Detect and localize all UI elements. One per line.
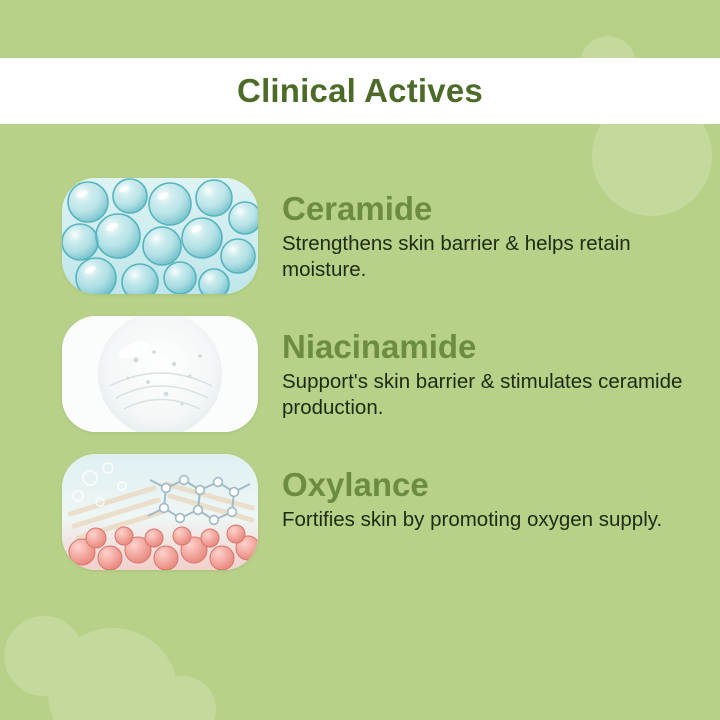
ingredient-name: Oxylance xyxy=(282,468,662,503)
page-title: Clinical Actives xyxy=(237,72,483,110)
oxylance-molecule-image xyxy=(62,454,258,570)
ingredient-description: Support's skin barrier & stimulates cera… xyxy=(282,369,712,421)
decorative-circle xyxy=(4,616,84,696)
ingredient-description: Fortifies skin by promoting oxygen suppl… xyxy=(282,507,662,533)
decorative-circle xyxy=(48,628,178,720)
ingredient-name: Niacinamide xyxy=(282,330,712,365)
ingredient-text-block: Niacinamide Support's skin barrier & sti… xyxy=(282,316,712,421)
ingredient-text-block: Ceramide Strengthens skin barrier & help… xyxy=(282,178,702,283)
list-item: Ceramide Strengthens skin barrier & help… xyxy=(0,178,720,294)
list-item: Niacinamide Support's skin barrier & sti… xyxy=(0,316,720,432)
list-item: Oxylance Fortifies skin by promoting oxy… xyxy=(0,454,720,570)
niacinamide-gel-image xyxy=(62,316,258,432)
title-band: Clinical Actives xyxy=(0,58,720,124)
clinical-actives-infographic: Clinical Actives xyxy=(0,0,720,720)
ingredient-name: Ceramide xyxy=(282,192,702,227)
ingredient-list: Ceramide Strengthens skin barrier & help… xyxy=(0,178,720,592)
ingredient-description: Strengthens skin barrier & helps retain … xyxy=(282,231,702,283)
ceramide-bubbles-image xyxy=(62,178,258,294)
ingredient-text-block: Oxylance Fortifies skin by promoting oxy… xyxy=(282,454,662,533)
decorative-circle xyxy=(150,676,216,720)
